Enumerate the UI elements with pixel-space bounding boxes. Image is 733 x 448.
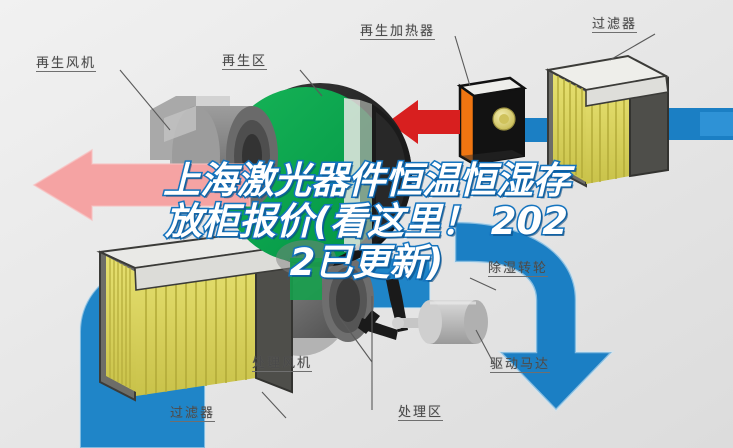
label-regeneration-zone: 再生区 (222, 53, 267, 70)
label-filter-top-right: 过滤器 (592, 16, 637, 33)
label-process-fan: 处理风机 (252, 355, 312, 372)
label-filter-bottom-left: 过滤器 (170, 405, 215, 422)
schematic-illustration (0, 0, 733, 448)
label-desiccant-rotor: 除湿转轮 (488, 260, 548, 277)
label-regeneration-heater: 再生加热器 (360, 23, 435, 40)
label-regeneration-fan: 再生风机 (36, 55, 96, 72)
filter-top-right-graphic (548, 56, 668, 186)
diagram-canvas: 再生风机 再生区 再生加热器 过滤器 除湿转轮 驱动马达 处理风机 处理区 过滤… (0, 0, 733, 448)
filter-bottom-left-graphic (100, 232, 292, 400)
regeneration-heater-graphic (460, 78, 524, 164)
label-drive-motor: 驱动马达 (490, 356, 550, 373)
label-process-zone: 处理区 (398, 404, 443, 421)
